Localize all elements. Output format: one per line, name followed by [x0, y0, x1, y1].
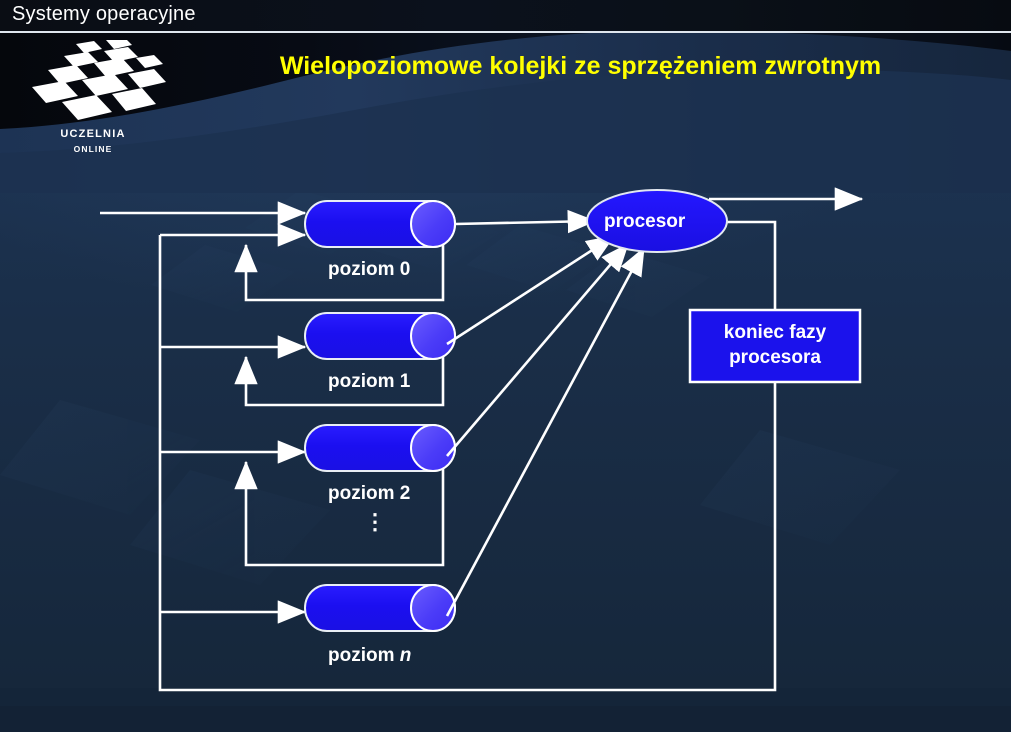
queue-cylinder-2 — [305, 425, 455, 471]
queue-cylinder-1 — [305, 313, 455, 359]
checkerboard-tiles-icon — [18, 40, 168, 132]
queue-label-n-prefix: poziom — [328, 645, 395, 666]
logo-wordmark: UCZELNIA — [18, 128, 168, 140]
processor-label: procesor — [604, 211, 685, 233]
queue-cylinder-n — [305, 585, 455, 631]
feedback-bus — [160, 222, 775, 690]
queue-label-n: poziom n — [328, 645, 411, 667]
demotion-paths — [246, 232, 443, 565]
queue-cylinder-0 — [305, 201, 455, 247]
dispatch-arrows — [447, 221, 644, 616]
header-divider — [0, 31, 1011, 33]
queue-feed-lines — [160, 235, 305, 612]
end-of-cpu-burst-label: koniec fazy procesora — [690, 320, 860, 370]
vertical-ellipsis: ⋮ — [360, 518, 390, 525]
logo: UCZELNIA ONLINE — [18, 40, 168, 165]
end-box-line-2: procesora — [729, 347, 821, 368]
end-box-line-1: koniec fazy — [724, 322, 826, 343]
slide-canvas: UCZELNIA ONLINE Wielopoziomowe kolejki z… — [0, 0, 1011, 732]
course-title: Systemy operacyjne — [12, 3, 196, 26]
queue-label-1: poziom 1 — [328, 371, 410, 393]
queue-label-2: poziom 2 — [328, 483, 410, 505]
queue-label-0: poziom 0 — [328, 259, 410, 281]
queue-label-n-value: n — [400, 645, 412, 666]
logo-subtitle: ONLINE — [18, 144, 168, 154]
